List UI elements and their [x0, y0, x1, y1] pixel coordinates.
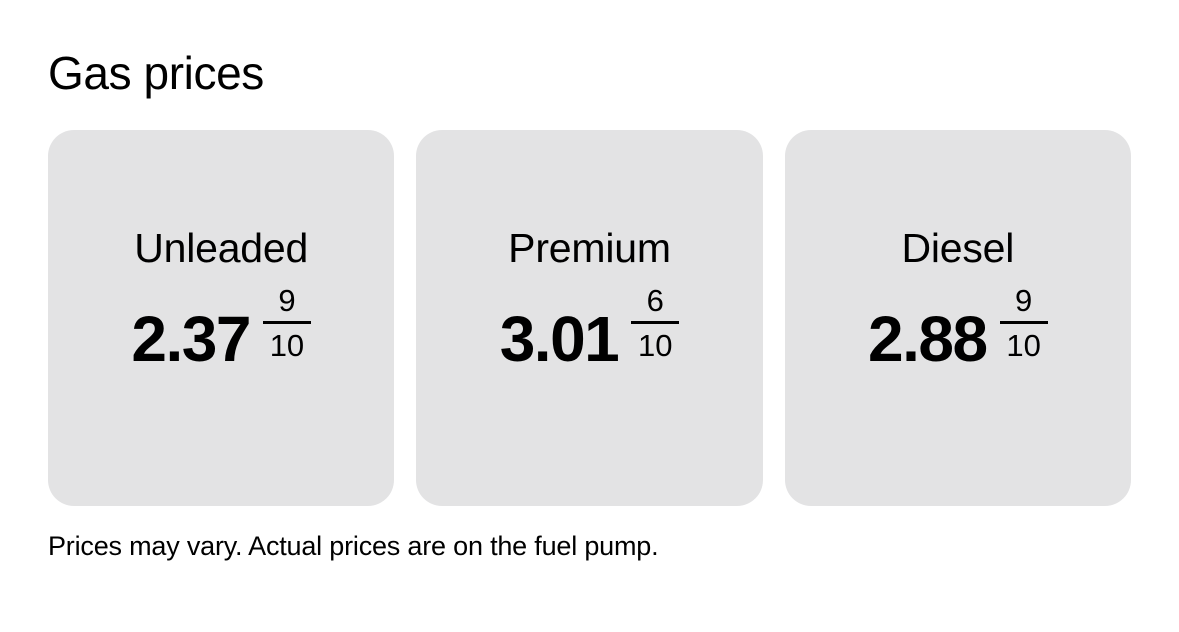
fuel-type-label: Unleaded: [134, 228, 308, 269]
price-display: 3.01 6 10: [500, 285, 680, 361]
fraction-numerator: 6: [647, 285, 664, 321]
price-whole-value: 3.01: [500, 307, 619, 371]
price-disclaimer: Prices may vary. Actual prices are on th…: [48, 530, 658, 562]
gas-price-card-premium[interactable]: Premium 3.01 6 10: [416, 130, 762, 506]
price-whole-value: 2.37: [131, 307, 250, 371]
page-title: Gas prices: [48, 50, 264, 96]
fraction-denominator: 10: [638, 324, 672, 361]
price-display: 2.88 9 10: [868, 285, 1048, 361]
fraction-numerator: 9: [1015, 285, 1032, 321]
card-content: Premium 3.01 6 10: [416, 228, 762, 361]
price-fraction: 9 10: [1000, 285, 1048, 361]
price-display: 2.37 9 10: [131, 285, 311, 361]
fraction-denominator: 10: [270, 324, 304, 361]
gas-price-card-diesel[interactable]: Diesel 2.88 9 10: [785, 130, 1131, 506]
gas-price-card-unleaded[interactable]: Unleaded 2.37 9 10: [48, 130, 394, 506]
card-content: Unleaded 2.37 9 10: [48, 228, 394, 361]
gas-prices-panel: Gas prices Unleaded 2.37 9 10 Premium: [0, 0, 1179, 632]
fuel-type-label: Premium: [508, 228, 671, 269]
fraction-denominator: 10: [1006, 324, 1040, 361]
price-whole-value: 2.88: [868, 307, 987, 371]
fuel-type-label: Diesel: [901, 228, 1014, 269]
gas-price-card-list: Unleaded 2.37 9 10 Premium 3.01 6: [48, 130, 1131, 506]
price-fraction: 6 10: [631, 285, 679, 361]
price-fraction: 9 10: [263, 285, 311, 361]
card-content: Diesel 2.88 9 10: [785, 228, 1131, 361]
fraction-numerator: 9: [278, 285, 295, 321]
